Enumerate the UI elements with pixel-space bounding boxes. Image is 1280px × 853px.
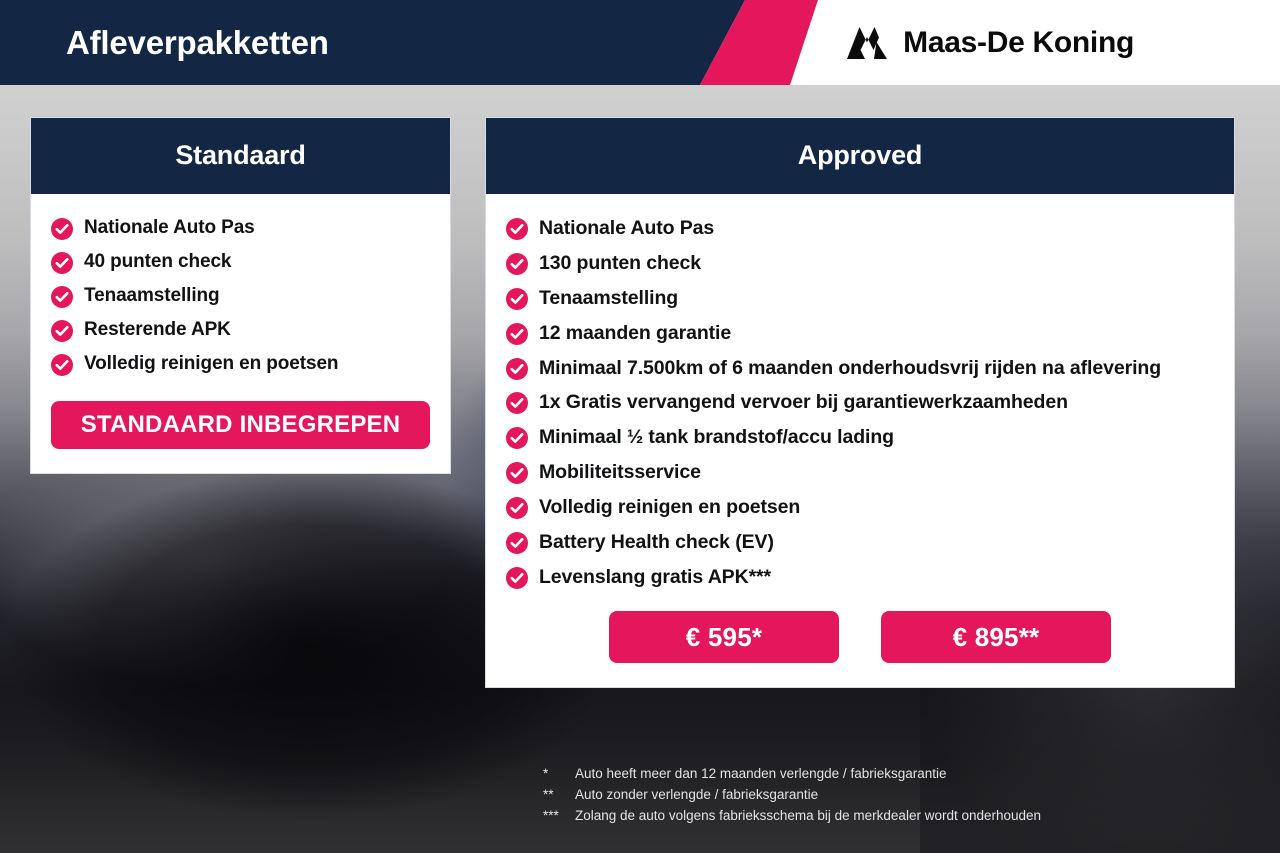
list-item: Nationale Auto Pas — [506, 216, 1214, 240]
check-circle-icon — [51, 354, 73, 376]
footnote-text: Auto heeft meer dan 12 maanden verlengde… — [575, 764, 947, 785]
feature-label: 1x Gratis vervangend vervoer bij garanti… — [539, 390, 1068, 414]
feature-label: 12 maanden garantie — [539, 321, 731, 345]
feature-list-standaard: Nationale Auto Pas 40 punten check Tenaa… — [51, 216, 430, 376]
feature-list-approved: Nationale Auto Pas 130 punten check Tena… — [506, 216, 1214, 589]
brand-lockup: Maas-De Koning — [845, 0, 1134, 85]
list-item: 130 punten check — [506, 251, 1214, 275]
feature-label: Nationale Auto Pas — [539, 216, 714, 240]
price-button-895[interactable]: € 895** — [881, 611, 1111, 663]
package-card-standaard: Standaard Nationale Auto Pas 40 punten c… — [30, 117, 451, 474]
list-item: Volledig reinigen en poetsen — [506, 495, 1214, 519]
feature-label: Resterende APK — [84, 318, 231, 342]
list-item: Mobiliteitsservice — [506, 460, 1214, 484]
check-circle-icon — [51, 252, 73, 274]
list-item: Tenaamstelling — [51, 284, 430, 308]
check-circle-icon — [506, 392, 528, 414]
check-circle-icon — [506, 358, 528, 380]
footnote-marker: ** — [543, 785, 575, 806]
top-banner: Afleverpakketten Maas-De Koning — [0, 0, 1280, 85]
check-circle-icon — [506, 497, 528, 519]
footnote-marker: *** — [543, 806, 575, 827]
list-item: 40 punten check — [51, 250, 430, 274]
feature-label: Battery Health check (EV) — [539, 530, 774, 554]
price-button-row: € 595* € 895** — [506, 611, 1214, 663]
list-item: Minimaal 7.500km of 6 maanden onderhouds… — [506, 356, 1214, 380]
maas-de-koning-m-logo-icon — [845, 26, 889, 60]
card-body-approved: Nationale Auto Pas 130 punten check Tena… — [486, 194, 1234, 687]
feature-label: Minimaal ½ tank brandstof/accu lading — [539, 425, 894, 449]
brand-name: Maas-De Koning — [903, 26, 1134, 60]
list-item: Tenaamstelling — [506, 286, 1214, 310]
feature-label: Tenaamstelling — [539, 286, 678, 310]
feature-label: Levenslang gratis APK*** — [539, 565, 771, 589]
check-circle-icon — [51, 320, 73, 342]
feature-label: 40 punten check — [84, 250, 231, 274]
package-card-approved: Approved Nationale Auto Pas 130 punten c… — [485, 117, 1235, 688]
footnote-row: *** Zolang de auto volgens fabrieksschem… — [543, 806, 1041, 827]
list-item: Resterende APK — [51, 318, 430, 342]
feature-label: Volledig reinigen en poetsen — [84, 352, 338, 376]
footnote-text: Auto zonder verlengde / fabrieksgarantie — [575, 785, 818, 806]
check-circle-icon — [506, 462, 528, 484]
list-item: Nationale Auto Pas — [51, 216, 430, 240]
standaard-inbegrepen-button[interactable]: STANDAARD INBEGREPEN — [51, 401, 430, 449]
check-circle-icon — [51, 286, 73, 308]
check-circle-icon — [506, 532, 528, 554]
card-body-standaard: Nationale Auto Pas 40 punten check Tenaa… — [31, 194, 450, 473]
list-item: Volledig reinigen en poetsen — [51, 352, 430, 376]
feature-label: Mobiliteitsservice — [539, 460, 701, 484]
list-item: 12 maanden garantie — [506, 321, 1214, 345]
check-circle-icon — [506, 323, 528, 345]
card-title-approved: Approved — [486, 118, 1234, 194]
footnote-marker: * — [543, 764, 575, 785]
check-circle-icon — [51, 218, 73, 240]
page-root: Afleverpakketten Maas-De Koning Standaar… — [0, 0, 1280, 853]
price-button-595[interactable]: € 595* — [609, 611, 839, 663]
check-circle-icon — [506, 253, 528, 275]
list-item: Minimaal ½ tank brandstof/accu lading — [506, 425, 1214, 449]
footnotes-block: * Auto heeft meer dan 12 maanden verleng… — [543, 764, 1041, 827]
card-title-standaard: Standaard — [31, 118, 450, 194]
feature-label: Minimaal 7.500km of 6 maanden onderhouds… — [539, 356, 1161, 380]
footnote-text: Zolang de auto volgens fabrieksschema bi… — [575, 806, 1041, 827]
check-circle-icon — [506, 567, 528, 589]
list-item: Levenslang gratis APK*** — [506, 565, 1214, 589]
check-circle-icon — [506, 218, 528, 240]
page-title: Afleverpakketten — [66, 0, 329, 85]
feature-label: Volledig reinigen en poetsen — [539, 495, 800, 519]
list-item: Battery Health check (EV) — [506, 530, 1214, 554]
feature-label: Nationale Auto Pas — [84, 216, 255, 240]
list-item: 1x Gratis vervangend vervoer bij garanti… — [506, 390, 1214, 414]
feature-label: 130 punten check — [539, 251, 701, 275]
feature-label: Tenaamstelling — [84, 284, 220, 308]
check-circle-icon — [506, 427, 528, 449]
check-circle-icon — [506, 288, 528, 310]
footnote-row: * Auto heeft meer dan 12 maanden verleng… — [543, 764, 1041, 785]
footnote-row: ** Auto zonder verlengde / fabrieksgaran… — [543, 785, 1041, 806]
